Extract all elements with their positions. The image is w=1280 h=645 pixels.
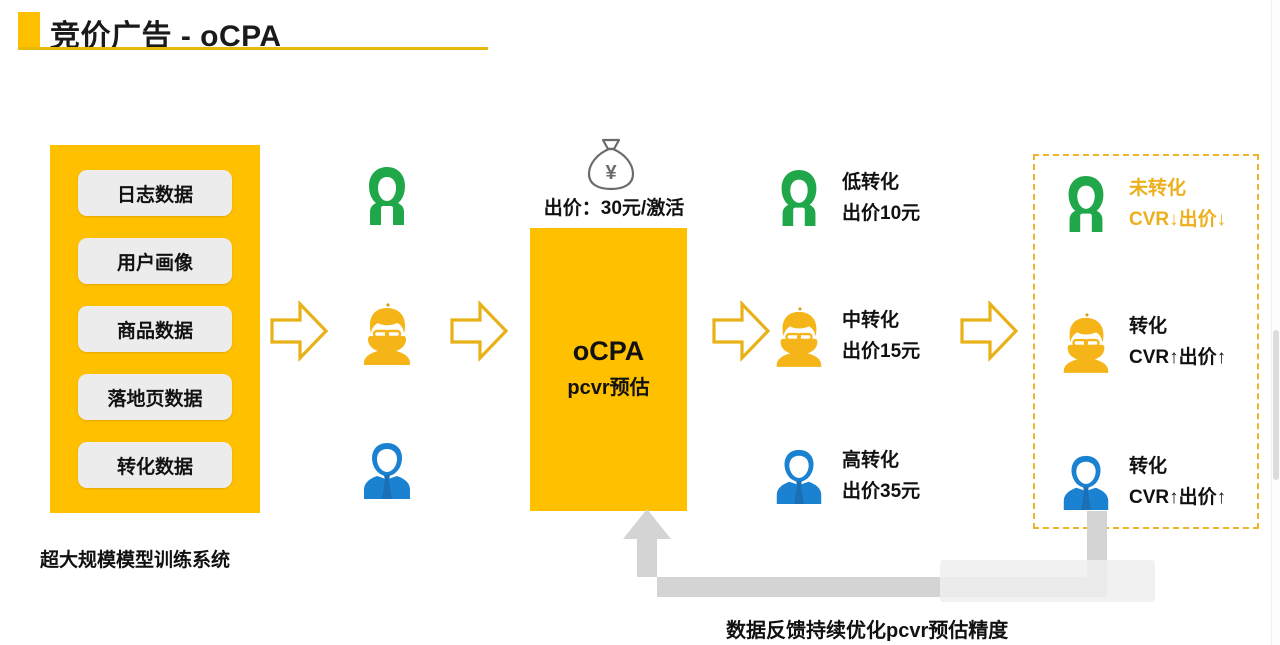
data-pill-landing[interactable]: 落地页数据 (78, 374, 232, 420)
flow-arrow-2-icon (450, 300, 508, 362)
result-unconverted-title: 未转化 (1129, 173, 1186, 200)
results-panel: 未转化 CVR↓出价↓ 转化 CVR↑出价↑ (1033, 154, 1259, 529)
money-bag-icon: ¥ (585, 136, 637, 192)
segment-mid-bid: 出价15元 (842, 336, 920, 363)
title-bullet-icon (18, 12, 40, 48)
training-panel-caption: 超大规模模型训练系统 (40, 545, 230, 572)
flow-arrow-3-icon (712, 300, 770, 362)
person-yellow-icon (357, 300, 417, 366)
data-pill-product[interactable]: 商品数据 (78, 306, 232, 352)
person-green-icon (357, 163, 417, 229)
segment-high-bid: 出价35元 (842, 476, 920, 503)
result-high-title: 转化 (1129, 451, 1167, 478)
data-pill-log[interactable]: 日志数据 (78, 170, 232, 216)
person-yellow-icon (770, 303, 828, 369)
person-blue-icon (357, 437, 417, 503)
result-row-unconverted: 未转化 CVR↓出价↓ (1057, 171, 1247, 241)
result-unconverted-detail: CVR↓出价↓ (1129, 204, 1226, 231)
result-mid-detail: CVR↑出价↑ (1129, 342, 1226, 369)
training-data-panel: 日志数据 用户画像 商品数据 落地页数据 转化数据 (50, 145, 260, 513)
page-scrollbar-thumb[interactable] (1273, 330, 1279, 480)
person-green-icon (1057, 171, 1115, 237)
result-row-converted-mid: 转化 CVR↑出价↑ (1057, 309, 1247, 379)
segment-row-mid: 中转化 出价15元 (770, 303, 970, 373)
ocpa-subtitle: pcvr预估 (530, 371, 687, 400)
ocpa-title: oCPA (530, 336, 687, 367)
svg-text:¥: ¥ (605, 162, 617, 184)
watermark-smear (940, 560, 1155, 602)
bid-label: 出价：30元/激活 (524, 193, 704, 220)
flow-arrow-1-icon (270, 300, 328, 362)
person-yellow-icon (1057, 309, 1115, 375)
data-pill-profile[interactable]: 用户画像 (78, 238, 232, 284)
segment-low-bid: 出价10元 (842, 198, 920, 225)
ocpa-box: oCPA pcvr预估 (530, 228, 687, 511)
result-mid-title: 转化 (1129, 311, 1167, 338)
segment-row-low: 低转化 出价10元 (770, 165, 970, 235)
slide-canvas: 竞价广告 - oCPA 日志数据 用户画像 商品数据 落地页数据 转化数据 超大… (0, 0, 1280, 645)
page-scrollbar-track[interactable] (1271, 0, 1280, 645)
segment-mid-title: 中转化 (842, 305, 899, 332)
person-blue-icon (770, 443, 828, 509)
feedback-caption: 数据反馈持续优化pcvr预估精度 (726, 614, 1008, 643)
segment-high-title: 高转化 (842, 445, 899, 472)
segment-low-title: 低转化 (842, 167, 899, 194)
segment-row-high: 高转化 出价35元 (770, 443, 970, 513)
data-pill-conversion[interactable]: 转化数据 (78, 442, 232, 488)
person-green-icon (770, 165, 828, 231)
flow-arrow-4-icon (960, 300, 1018, 362)
title-underline (18, 47, 488, 50)
